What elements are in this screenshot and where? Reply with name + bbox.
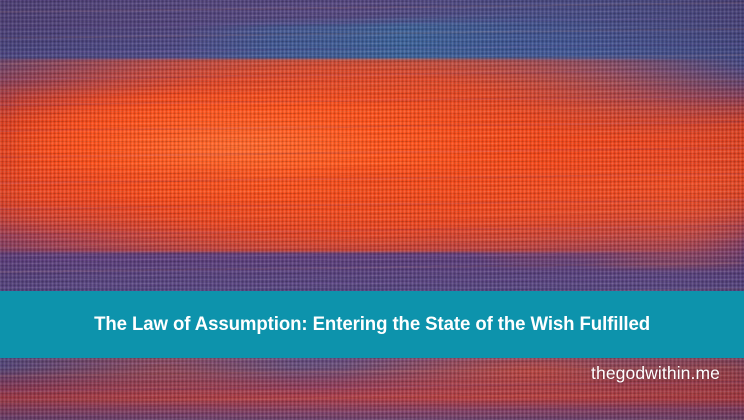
title-banner: The Law of Assumption: Entering the Stat… [0,291,744,358]
paint-layer-ragged-edge [0,168,744,269]
article-title: The Law of Assumption: Entering the Stat… [94,313,650,335]
site-name: thegodwithin.me [591,363,720,384]
featured-image-card: The Law of Assumption: Entering the Stat… [0,0,744,420]
